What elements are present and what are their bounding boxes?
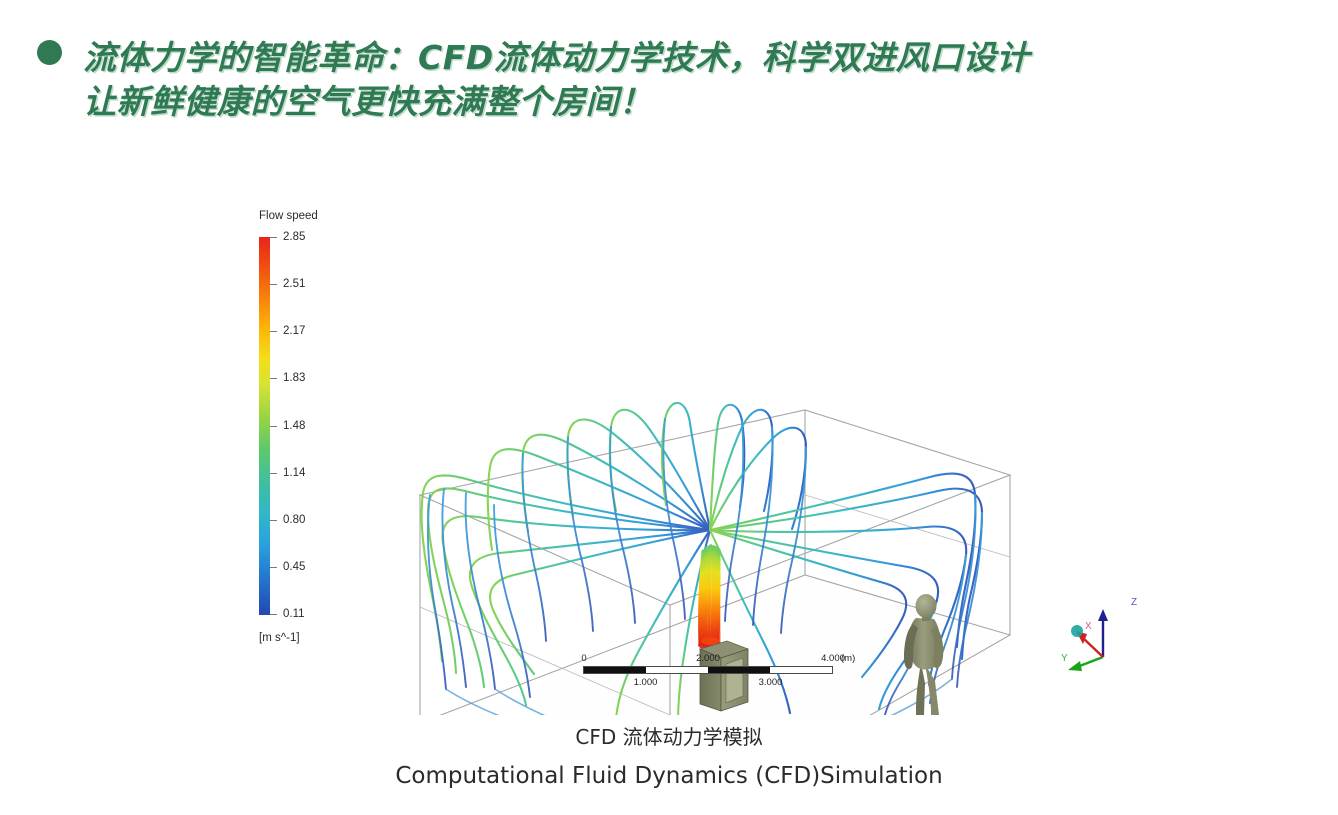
- legend-colorbar: [259, 237, 270, 615]
- scale-bar-segment: [584, 667, 646, 673]
- legend-tick-label: 2.51: [283, 278, 305, 290]
- legend-tick-mark: [270, 378, 277, 379]
- vertical-air-jet: [698, 546, 722, 650]
- cfd-figure: Flow speed 2.852.512.171.831.481.140.800…: [0, 175, 1338, 715]
- scale-bar-label: 1.000: [634, 677, 658, 688]
- scale-bar: 02.0004.0001.0003.000 (m): [583, 653, 883, 691]
- flow-speed-legend: Flow speed 2.852.512.171.831.481.140.800…: [255, 210, 365, 640]
- legend-tick-mark: [270, 520, 277, 521]
- caption-english: Computational Fluid Dynamics (CFD)Simula…: [0, 758, 1338, 794]
- headline-line-2: 让新鲜健康的空气更快充满整个房间！: [83, 75, 653, 123]
- scale-bar-label: 0: [581, 653, 586, 664]
- legend-tick-label: 1.48: [283, 420, 305, 432]
- legend-tick-mark: [270, 567, 277, 568]
- headline-line-1: 流体力学的智能革命：CFD流体动力学技术，科学双进风口设计: [83, 31, 1030, 79]
- bullet-dot-icon: [37, 40, 62, 65]
- axis-label-z: Z: [1131, 597, 1137, 608]
- legend-tick-mark: [270, 426, 277, 427]
- axis-label-x: X: [1085, 621, 1092, 632]
- scale-bar-track: [583, 666, 833, 674]
- legend-tick-mark: [270, 614, 277, 615]
- scale-bar-label: 2.000: [696, 653, 720, 664]
- legend-title: Flow speed: [259, 210, 318, 222]
- figure-caption: CFD 流体动力学模拟 Computational Fluid Dynamics…: [0, 722, 1338, 794]
- legend-tick-mark: [270, 284, 277, 285]
- scale-bar-segment: [708, 667, 770, 673]
- legend-tick-mark: [270, 331, 277, 332]
- scale-bar-label: 3.000: [759, 677, 783, 688]
- legend-tick-mark: [270, 237, 277, 238]
- legend-tick-label: 2.17: [283, 325, 305, 337]
- scale-bar-unit: (m): [841, 653, 855, 664]
- legend-tick-label: 0.80: [283, 514, 305, 526]
- legend-tick-label: 0.45: [283, 561, 305, 573]
- caption-chinese: CFD 流体动力学模拟: [0, 722, 1338, 752]
- legend-tick-label: 2.85: [283, 231, 305, 243]
- slide-headline: 流体力学的智能革命：CFD流体动力学技术，科学双进风口设计 让新鲜健康的空气更快…: [0, 14, 1338, 108]
- legend-tick-label: 0.11: [283, 608, 305, 620]
- axis-triad: Z X Y: [1055, 595, 1165, 675]
- legend-tick-label: 1.83: [283, 372, 305, 384]
- legend-tick-mark: [270, 473, 277, 474]
- axis-label-y: Y: [1061, 653, 1068, 664]
- legend-unit-label: [m s^-1]: [259, 632, 300, 644]
- legend-tick-label: 1.14: [283, 467, 305, 479]
